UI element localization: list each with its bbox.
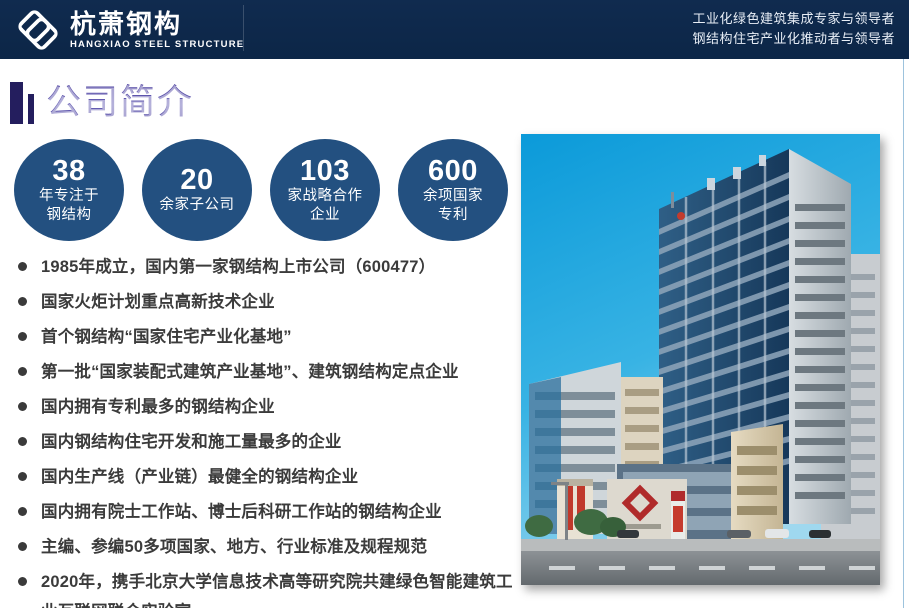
list-item-text: 国内钢结构住宅开发和施工量最多的企业 bbox=[41, 427, 342, 457]
list-item-text: 国内拥有专利最多的钢结构企业 bbox=[41, 392, 275, 422]
stat-label-line-2: 钢结构 bbox=[47, 206, 92, 225]
bullet-dot-icon bbox=[18, 507, 27, 516]
bullet-dot-icon bbox=[18, 472, 27, 481]
list-item: 国内拥有院士工作站、博士后科研工作站的钢结构企业 bbox=[18, 497, 513, 527]
list-item-text: 2020年，携手北京大学信息技术高等研究院共建绿色智能建筑工业互联网联合实验室 bbox=[41, 567, 513, 608]
stat-label-line-1: 余项国家 bbox=[423, 187, 483, 206]
stat-circle: 38 年专注于 钢结构 bbox=[14, 139, 124, 241]
list-item: 主编、参编50多项国家、地方、行业标准及规程规范 bbox=[18, 532, 513, 562]
list-item: 国家火炬计划重点高新技术企业 bbox=[18, 287, 513, 317]
stat-label-line-1: 年专注于 bbox=[39, 187, 99, 206]
slide-root: 杭萧钢构 HANGXIAO STEEL STRUCTURE 工业化绿色建筑集成专… bbox=[0, 0, 909, 608]
stat-circle: 103 家战略合作 企业 bbox=[270, 139, 380, 241]
interlocking-diamond-logo-icon bbox=[16, 8, 60, 52]
logo-divider bbox=[243, 5, 244, 51]
list-item: 第一批“国家装配式建筑产业基地”、建筑钢结构定点企业 bbox=[18, 357, 513, 387]
page-title: 公司简介 bbox=[10, 76, 194, 124]
stat-number: 38 bbox=[52, 156, 85, 187]
stat-label-line-1: 余家子公司 bbox=[160, 196, 235, 215]
stat-label-line-1: 家战略合作 bbox=[288, 187, 363, 206]
tagline-line-1: 工业化绿色建筑集成专家与领导者 bbox=[692, 9, 895, 29]
list-item-text: 主编、参编50多项国家、地方、行业标准及规程规范 bbox=[41, 532, 427, 562]
list-item: 1985年成立，国内第一家钢结构上市公司（600477） bbox=[18, 252, 513, 282]
tagline-line-2: 钢结构住宅产业化推动者与领导者 bbox=[692, 29, 895, 49]
stat-label-line-2: 企业 bbox=[310, 206, 340, 225]
bullet-dot-icon bbox=[18, 437, 27, 446]
stat-circle: 600 余项国家 专利 bbox=[398, 139, 508, 241]
list-item: 2020年，携手北京大学信息技术高等研究院共建绿色智能建筑工业互联网联合实验室 bbox=[18, 567, 513, 608]
list-item-text: 1985年成立，国内第一家钢结构上市公司（600477） bbox=[41, 252, 435, 282]
stat-circle: 20 余家子公司 bbox=[142, 139, 252, 241]
logo-text-en: HANGXIAO STEEL STRUCTURE bbox=[70, 40, 244, 50]
stat-circle-group: 38 年专注于 钢结构 20 余家子公司 103 家战略合作 企业 600 余项… bbox=[14, 139, 508, 241]
right-edge-accent-line bbox=[903, 59, 905, 608]
list-item: 国内拥有专利最多的钢结构企业 bbox=[18, 392, 513, 422]
title-accent-bar-thin bbox=[28, 94, 34, 124]
list-item-text: 国内生产线（产业链）最健全的钢结构企业 bbox=[41, 462, 358, 492]
list-item-text: 国内拥有院士工作站、博士后科研工作站的钢结构企业 bbox=[41, 497, 442, 527]
bullet-list: 1985年成立，国内第一家钢结构上市公司（600477） 国家火炬计划重点高新技… bbox=[18, 252, 513, 608]
list-item: 国内钢结构住宅开发和施工量最多的企业 bbox=[18, 427, 513, 457]
bullet-dot-icon bbox=[18, 402, 27, 411]
bullet-dot-icon bbox=[18, 577, 27, 586]
stat-number: 600 bbox=[428, 156, 478, 187]
bullet-dot-icon bbox=[18, 297, 27, 306]
logo-text-cn: 杭萧钢构 bbox=[70, 11, 244, 37]
company-logo: 杭萧钢构 HANGXIAO STEEL STRUCTURE bbox=[16, 6, 244, 54]
header-bar: 杭萧钢构 HANGXIAO STEEL STRUCTURE 工业化绿色建筑集成专… bbox=[0, 0, 909, 59]
list-item: 首个钢结构“国家住宅产业化基地” bbox=[18, 322, 513, 352]
bullet-dot-icon bbox=[18, 367, 27, 376]
stat-number: 103 bbox=[300, 156, 350, 187]
bullet-dot-icon bbox=[18, 542, 27, 551]
bullet-dot-icon bbox=[18, 262, 27, 271]
page-title-text: 公司简介 bbox=[46, 82, 194, 124]
list-item-text: 第一批“国家装配式建筑产业基地”、建筑钢结构定点企业 bbox=[41, 357, 459, 387]
list-item-text: 国家火炬计划重点高新技术企业 bbox=[41, 287, 275, 317]
list-item-text: 首个钢结构“国家住宅产业化基地” bbox=[41, 322, 292, 352]
stat-number: 20 bbox=[180, 165, 213, 196]
header-tagline: 工业化绿色建筑集成专家与领导者 钢结构住宅产业化推动者与领导者 bbox=[692, 9, 895, 49]
stat-label-line-2: 专利 bbox=[438, 206, 468, 225]
bullet-dot-icon bbox=[18, 332, 27, 341]
building-photo-illustration bbox=[521, 134, 880, 585]
list-item: 国内生产线（产业链）最健全的钢结构企业 bbox=[18, 462, 513, 492]
title-accent-bar-thick bbox=[10, 82, 23, 124]
building-photo bbox=[521, 134, 880, 585]
